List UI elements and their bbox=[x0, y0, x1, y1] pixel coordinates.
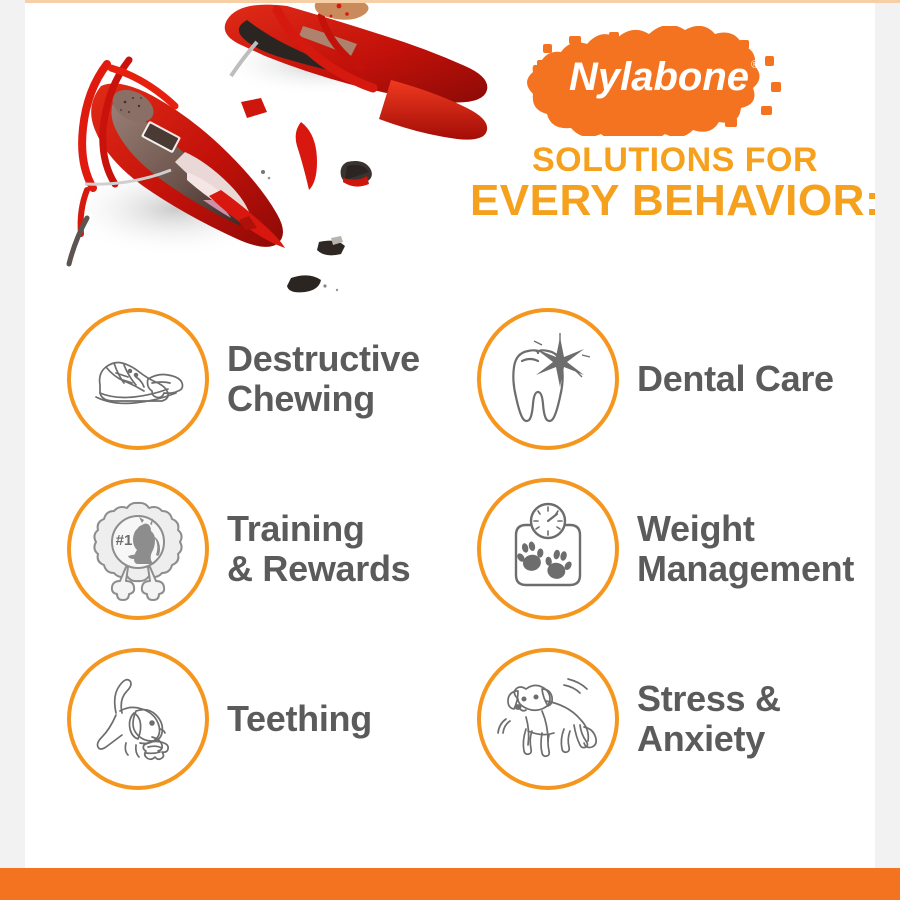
benefit-label-line: Dental Care bbox=[637, 359, 834, 399]
bottom-orange-bar bbox=[0, 868, 900, 900]
poster-root: Nylabone ® SOLUTIONS FOR EVERY BEHAVIOR: bbox=[0, 0, 900, 900]
benefits-row-2: #1 Training bbox=[67, 464, 875, 634]
nylabone-wordmark: Nylabone bbox=[569, 55, 749, 99]
bathroom-scale-paws-icon bbox=[496, 497, 600, 601]
registered-mark-icon: ® bbox=[751, 59, 759, 71]
sparkling-tooth-icon bbox=[496, 327, 600, 431]
benefit-dental-care[interactable]: Dental Care bbox=[477, 294, 875, 464]
benefit-label-line: Teething bbox=[227, 699, 372, 739]
benefit-label-line: Weight bbox=[637, 509, 854, 549]
benefit-icon-circle bbox=[477, 648, 619, 790]
benefit-label-line: Anxiety bbox=[637, 719, 781, 759]
award-rosette-dog-icon: #1 bbox=[86, 497, 190, 601]
benefit-weight-management[interactable]: Weight Management bbox=[477, 464, 875, 634]
poster-canvas: Nylabone ® SOLUTIONS FOR EVERY BEHAVIOR: bbox=[25, 0, 875, 868]
benefits-row-1: Destructive Chewing bbox=[67, 294, 875, 464]
benefit-label: Training & Rewards bbox=[227, 509, 410, 590]
benefit-label: Teething bbox=[227, 699, 372, 739]
nylabone-logo: Nylabone ® bbox=[525, 26, 795, 136]
headline-line-1: SOLUTIONS FOR bbox=[445, 142, 875, 178]
shaking-dog-icon bbox=[496, 667, 600, 771]
benefit-label: Destructive Chewing bbox=[227, 339, 420, 420]
sparkle-glyph bbox=[536, 337, 584, 387]
benefit-label-line: Training bbox=[227, 509, 410, 549]
benefits-row-3: Teething bbox=[67, 634, 875, 804]
benefit-label: Weight Management bbox=[637, 509, 854, 590]
headline-block: SOLUTIONS FOR EVERY BEHAVIOR: bbox=[445, 142, 875, 225]
benefit-label-line: & Rewards bbox=[227, 549, 410, 589]
benefit-icon-circle bbox=[477, 478, 619, 620]
top-divider-rule bbox=[25, 0, 900, 3]
benefit-label-line: Destructive bbox=[227, 339, 420, 379]
benefit-stress-anxiety[interactable]: Stress & Anxiety bbox=[477, 634, 875, 804]
benefit-label: Stress & Anxiety bbox=[637, 679, 781, 760]
benefit-label-line: Stress & bbox=[637, 679, 781, 719]
benefit-destructive-chewing[interactable]: Destructive Chewing bbox=[67, 294, 477, 464]
puppy-chewing-bone-icon bbox=[86, 667, 190, 771]
chewed-shoe-icon bbox=[86, 327, 190, 431]
benefit-label-line: Chewing bbox=[227, 379, 420, 419]
hero-image-chewed-shoes bbox=[25, 0, 495, 304]
benefit-icon-circle bbox=[67, 308, 209, 450]
benefit-teething[interactable]: Teething bbox=[67, 634, 477, 804]
benefit-training-rewards[interactable]: #1 Training bbox=[67, 464, 477, 634]
benefit-label-line: Management bbox=[637, 549, 854, 589]
rosette-badge-text: #1 bbox=[116, 532, 133, 549]
benefits-grid: Destructive Chewing bbox=[67, 294, 875, 804]
benefit-icon-circle bbox=[67, 648, 209, 790]
paw-print-glyphs bbox=[513, 539, 575, 582]
benefit-icon-circle: #1 bbox=[67, 478, 209, 620]
headline-line-2: EVERY BEHAVIOR: bbox=[445, 178, 875, 225]
benefit-label: Dental Care bbox=[637, 359, 834, 399]
benefit-icon-circle bbox=[477, 308, 619, 450]
